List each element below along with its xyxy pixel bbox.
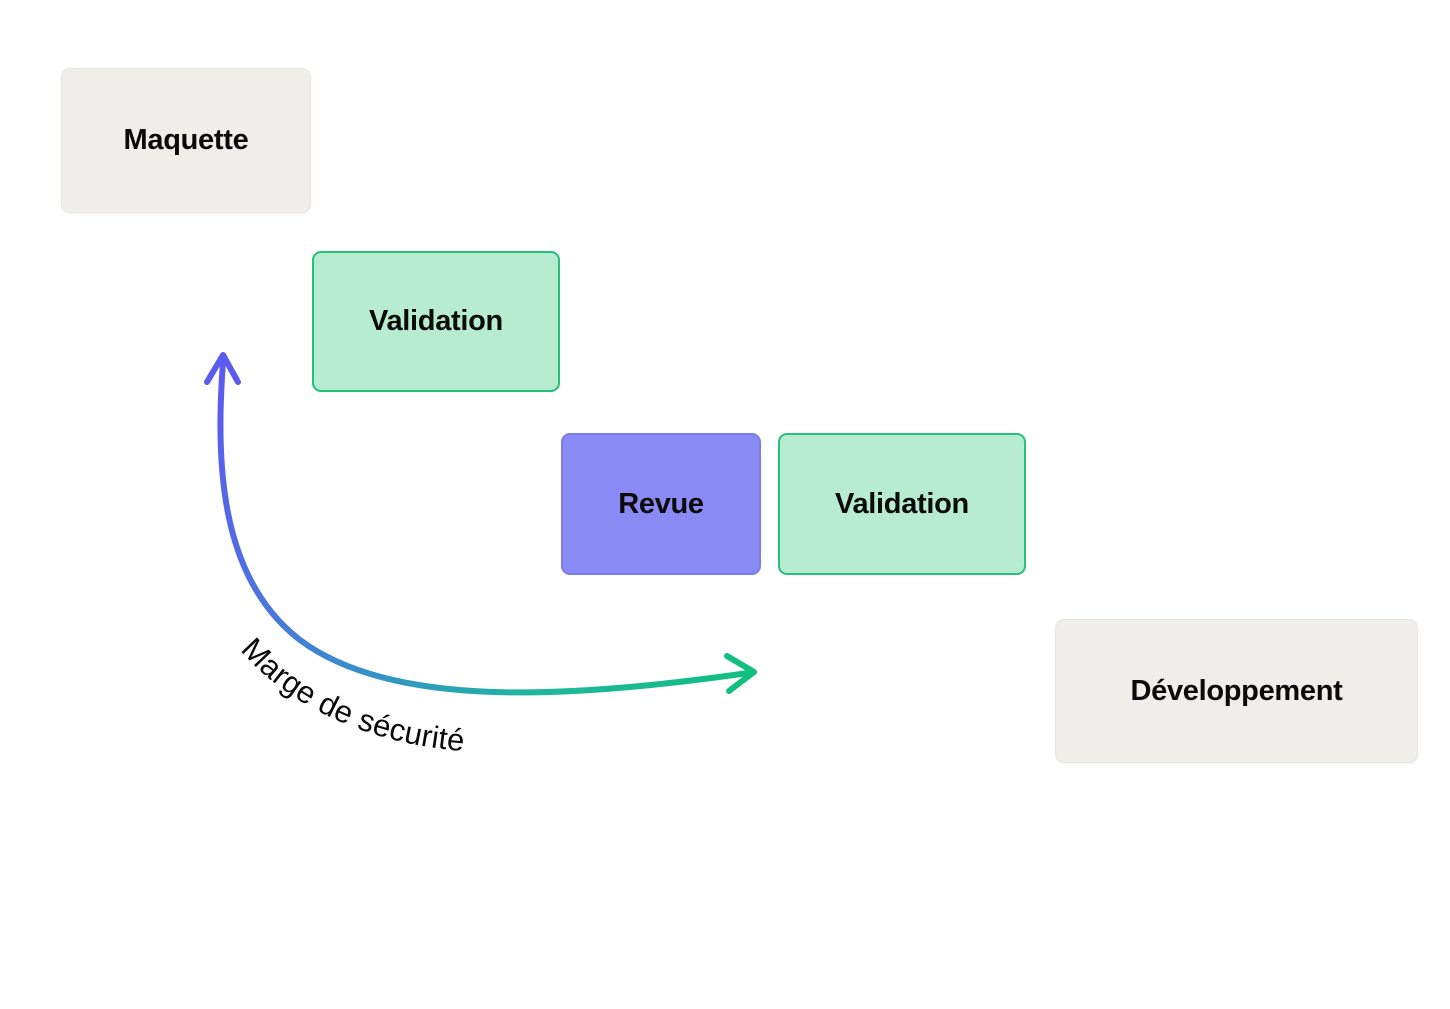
node-validation-1[interactable]: Validation [312,251,560,392]
node-validation-1-label: Validation [369,307,503,336]
node-validation-2[interactable]: Validation [778,433,1026,575]
node-validation-2-label: Validation [835,490,969,519]
node-maquette[interactable]: Maquette [61,68,311,213]
node-maquette-label: Maquette [124,126,249,155]
arrowhead-up-icon [207,355,238,382]
node-revue-label: Revue [618,490,704,519]
node-revue[interactable]: Revue [561,433,761,575]
node-developpement-label: Développement [1130,677,1342,706]
connector-label: Marge de sécurité [235,631,467,758]
node-developpement[interactable]: Développement [1055,619,1418,763]
diagram-canvas: Marge de sécurité Maquette Validation Re… [0,0,1450,1009]
connector-label-textpath: Marge de sécurité [235,631,467,758]
arrowhead-right-icon [727,656,754,691]
